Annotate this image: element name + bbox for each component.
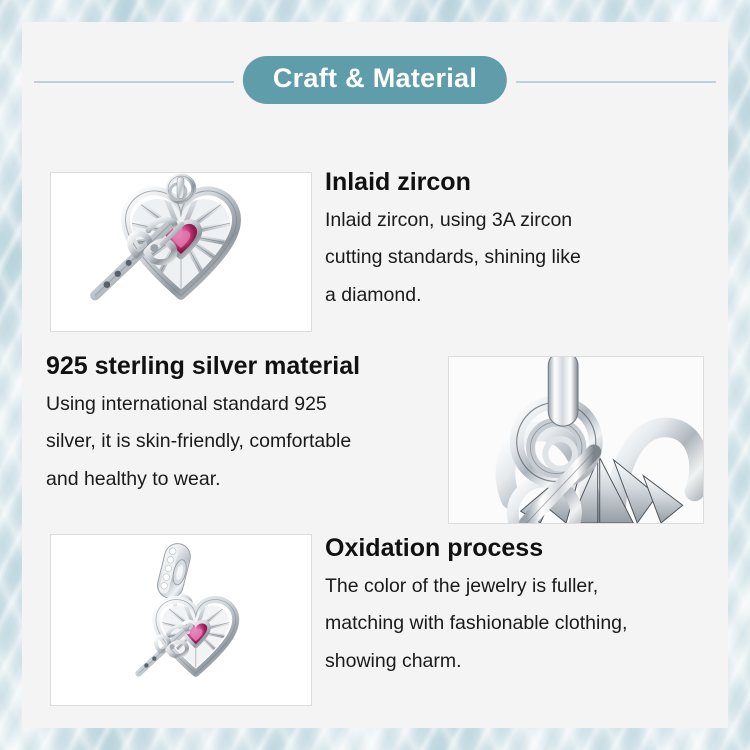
section-body-line: silver, it is skin-friendly, comfortable xyxy=(46,432,446,452)
section-header: Craft & Material xyxy=(22,56,728,108)
section-sterling-silver: 925 sterling silver material Using inter… xyxy=(22,340,728,536)
content-panel: Craft & Material xyxy=(22,22,728,728)
infographic-page: Craft & Material xyxy=(0,0,750,750)
header-rule-left xyxy=(34,81,234,83)
section-body-line: matching with fashionable clothing, xyxy=(325,614,710,634)
text-block-inlaid-zircon: Inlaid zircon Inlaid zircon, using 3A zi… xyxy=(325,168,705,305)
header-badge: Craft & Material xyxy=(243,56,507,104)
section-oxidation-process: Oxidation process The color of the jewel… xyxy=(22,522,728,722)
section-body-line: Inlaid zircon, using 3A zircon xyxy=(325,211,705,231)
section-body-line: and healthy to wear. xyxy=(46,470,446,490)
full-pendant-photo xyxy=(50,534,312,706)
heart-charm-with-key-photo xyxy=(50,172,312,332)
section-body-line: a diamond. xyxy=(325,286,705,306)
section-heading: Oxidation process xyxy=(325,534,710,563)
section-body-line: showing charm. xyxy=(325,652,710,672)
section-body-line: Using international standard 925 xyxy=(46,395,446,415)
bail-closeup-photo xyxy=(448,356,704,524)
text-block-sterling-silver: 925 sterling silver material Using inter… xyxy=(46,352,446,489)
section-heading: Inlaid zircon xyxy=(325,168,705,197)
text-block-oxidation-process: Oxidation process The color of the jewel… xyxy=(325,534,710,671)
header-rule-right xyxy=(516,81,716,83)
section-body-line: The color of the jewelry is fuller, xyxy=(325,577,710,597)
section-body-line: cutting standards, shining like xyxy=(325,248,705,268)
section-inlaid-zircon: Inlaid zircon Inlaid zircon, using 3A zi… xyxy=(22,150,728,346)
section-heading: 925 sterling silver material xyxy=(46,352,446,381)
